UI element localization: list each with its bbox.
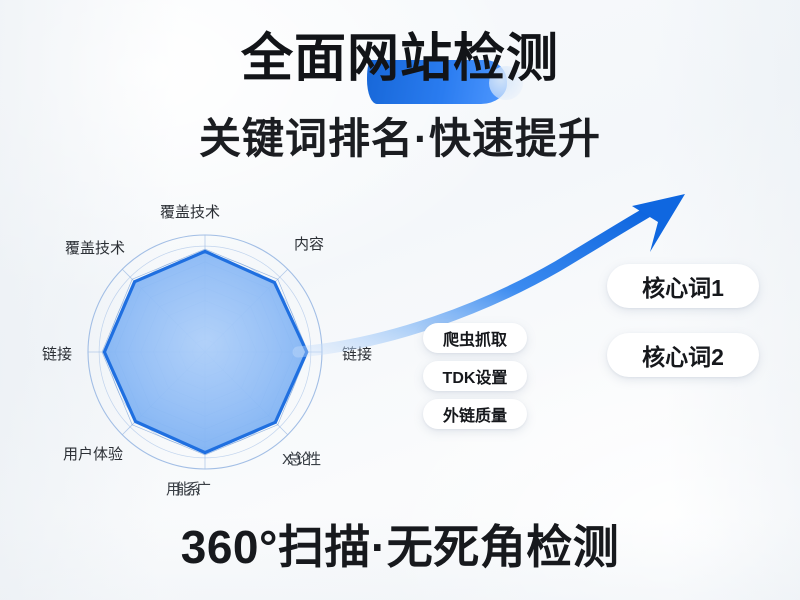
tag-pill-crawl-label: 爬虫抓取	[443, 326, 507, 350]
headline-inner: 全面网站检测	[241, 33, 559, 85]
radar-axis-label-1: 覆盖技术	[160, 201, 220, 222]
page-title: 全面网站检测	[0, 33, 800, 85]
keyword-pill-1-label: 核心词1	[642, 269, 724, 303]
tag-pill-tdk-label: TDK设置	[443, 364, 508, 388]
headline-seg-highlight: 网站	[347, 30, 453, 88]
tag-pill-crawl[interactable]: 爬虫抓取	[423, 323, 527, 353]
radar-series-polygon	[104, 251, 306, 452]
headline-seg-after: 检测	[453, 30, 559, 88]
keyword-pill-2-label: 核心词2	[642, 338, 724, 372]
keyword-pill-2[interactable]: 核心词2	[607, 333, 759, 377]
footer-tagline: 360°扫描·无死角检测	[0, 524, 800, 570]
tag-pill-tdk[interactable]: TDK设置	[423, 361, 527, 391]
headline-text: 全面网站检测	[241, 30, 559, 88]
radar-axis-label-4: X总:论性	[282, 448, 316, 469]
radar-axis-label-5: 用能系广	[166, 478, 206, 499]
page-subtitle: 关键词排名·快速提升	[0, 118, 800, 160]
radar-axis-label-8: 覆盖技术	[65, 237, 125, 258]
radar-axis-label-6: 用户体验	[63, 443, 123, 464]
tag-pill-external-link-label: 外链质量	[443, 402, 507, 426]
poster-canvas: 全面网站检测 关键词排名·快速提升 覆盖技术内容链接X总:论性用能系广用户体验链…	[0, 0, 800, 600]
radar-axis-label-7: 链接	[42, 343, 72, 364]
headline-seg-before: 全面	[241, 30, 347, 88]
tag-pill-external-link[interactable]: 外链质量	[423, 399, 527, 429]
keyword-pill-1[interactable]: 核心词1	[607, 264, 759, 308]
